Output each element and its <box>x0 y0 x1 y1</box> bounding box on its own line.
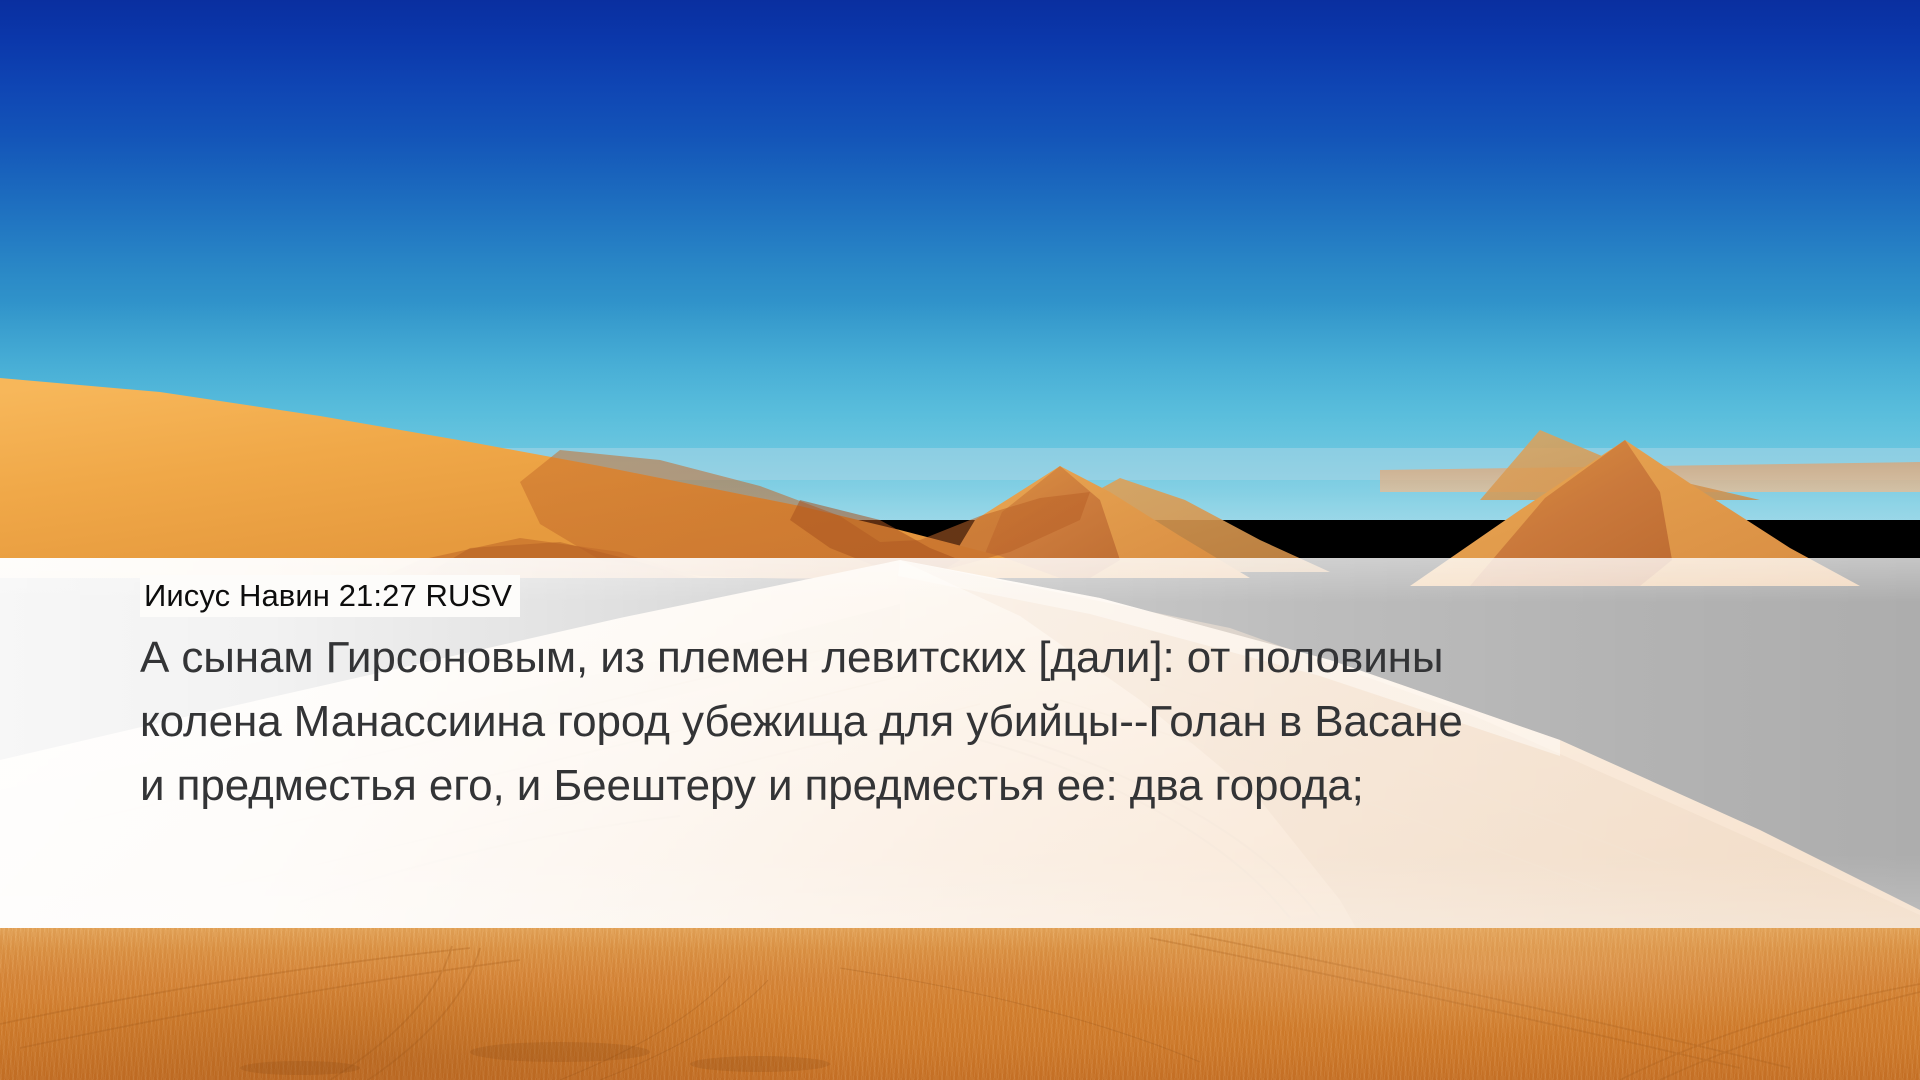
sand-shading <box>0 928 1920 1080</box>
verse-text-line: и предместья его, и Беештеру и предместь… <box>140 754 1840 818</box>
verse-reference-label: Иисус Навин 21:27 RUSV <box>144 579 512 613</box>
foreground-sand <box>0 928 1920 1080</box>
verse-reference-chip: Иисус Навин 21:27 RUSV <box>140 575 520 617</box>
verse-image-canvas: Иисус Навин 21:27 RUSV А сынам Гирсоновы… <box>0 0 1920 1080</box>
verse-text-line: колена Манассиина город убежища для убий… <box>140 690 1840 754</box>
verse-content: Иисус Навин 21:27 RUSV А сынам Гирсоновы… <box>0 558 1920 928</box>
verse-text-block: А сынам Гирсоновым, из племен левитских … <box>140 626 1840 818</box>
verse-text-line: А сынам Гирсоновым, из племен левитских … <box>140 626 1840 690</box>
verse-overlay-panel: Иисус Навин 21:27 RUSV А сынам Гирсоновы… <box>0 558 1920 928</box>
